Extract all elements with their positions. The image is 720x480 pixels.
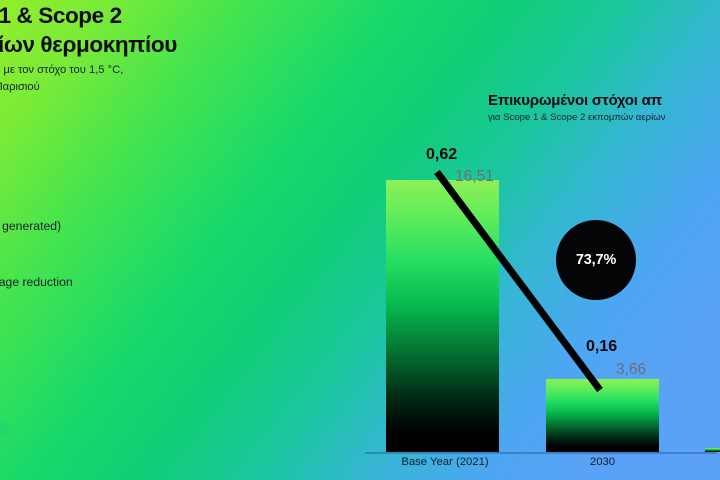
headline-line-1: η Scope 1 & Scope 2 <box>0 2 177 31</box>
page-title: η Scope 1 & Scope 2 πών αερίων θερμοκηπί… <box>0 2 177 60</box>
bar-value-secondary-2021: 16,51 <box>455 168 494 186</box>
x-axis-label-base-year: Base Year (2021) <box>370 456 520 468</box>
legend-item-intensity: ty (tCO2e / MWh generated) <box>0 219 61 233</box>
oc-logo <box>0 398 12 460</box>
headline-line-2: πών αερίων θερμοκηπίου <box>0 31 177 60</box>
x-axis-line <box>365 452 717 454</box>
subtitle-line-1: ήρη ευθυγράμμιση με τον στόχο του 1,5 °C… <box>0 62 123 79</box>
left-text-panel: η Scope 1 & Scope 2 πών αερίων θερμοκηπί… <box>0 0 328 480</box>
x-axis-label-2030: 2030 <box>540 456 665 468</box>
chart-panel: Επικυρωμένοι στόχοι απ για Scope 1 & Sco… <box>360 0 720 480</box>
legend-item-target-reduction: cy target percentage reduction <box>0 275 73 289</box>
chart-subtitle: για Scope 1 & Scope 2 εκπομπών αερίων <box>488 112 666 123</box>
bar-value-primary-2030: 0,16 <box>586 338 617 356</box>
status-badge: 73,7% <box>556 220 636 300</box>
bar-value-secondary-2030: 3,66 <box>616 361 646 379</box>
bar-value-primary-2021: 0,62 <box>426 146 457 164</box>
page-subtitle: ήρη ευθυγράμμιση με τον στόχο του 1,5 °C… <box>0 62 123 96</box>
subtitle-line-2: τη Συμφωνία του Παρισιού <box>0 79 123 96</box>
infographic-canvas: η Scope 1 & Scope 2 πών αερίων θερμοκηπί… <box>0 0 720 480</box>
bar-2030[interactable] <box>546 379 659 452</box>
legend-item-label: ty (tCO2e / MWh generated) <box>0 219 61 233</box>
reduction-percentage: 73,7% <box>576 252 616 268</box>
legend-item-label: cy target percentage reduction <box>0 275 73 289</box>
chart-title: Επικυρωμένοι στόχοι απ <box>488 92 662 109</box>
bar-base-year-2021[interactable] <box>386 180 499 452</box>
